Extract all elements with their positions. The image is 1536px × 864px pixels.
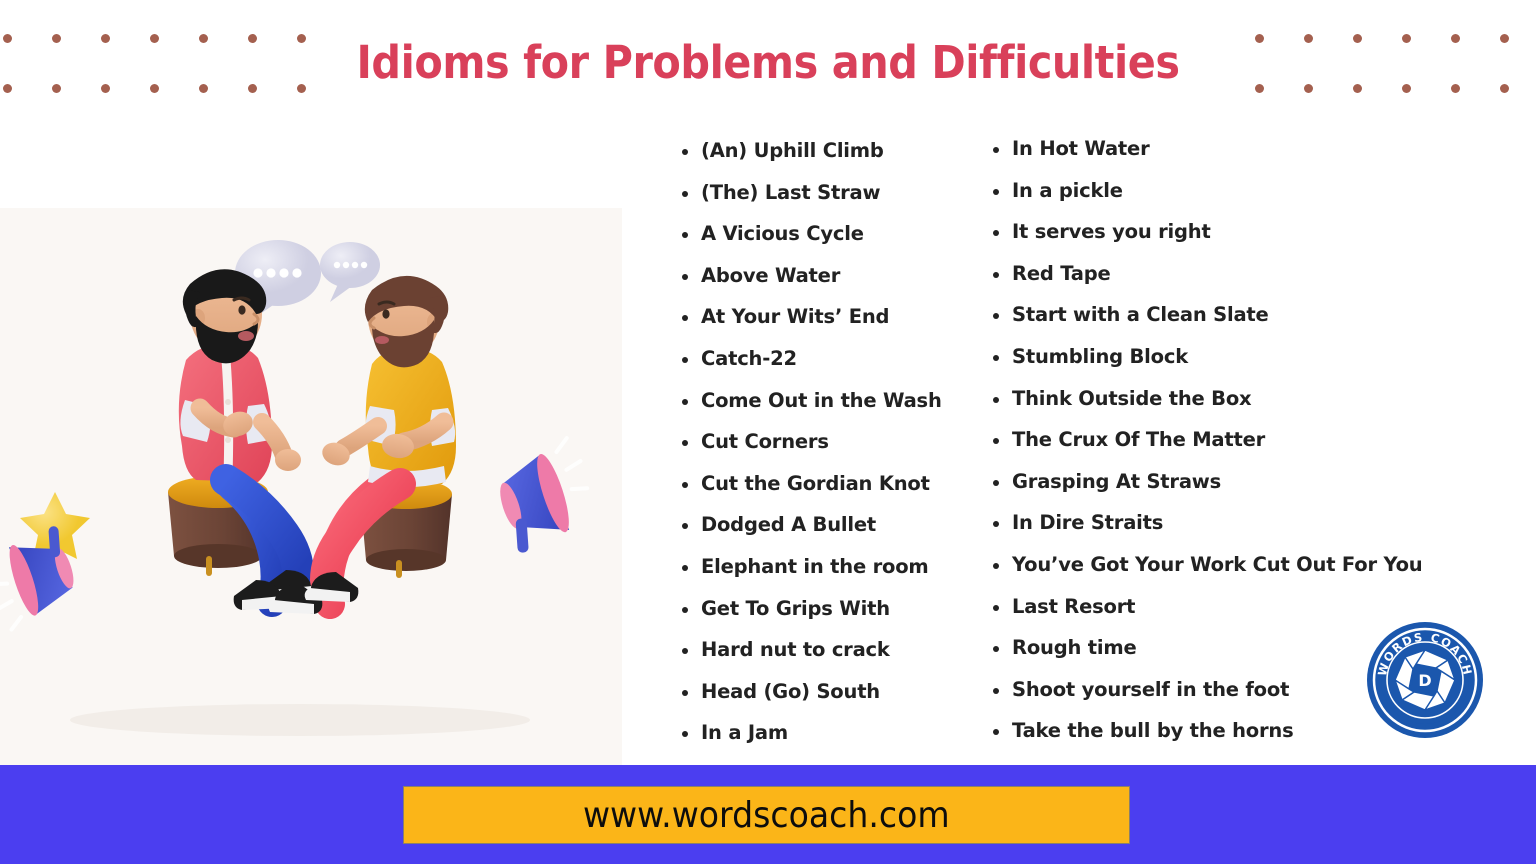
- idiom-item: A Vicious Cycle: [682, 213, 982, 255]
- idiom-item: Head (Go) South: [682, 671, 982, 713]
- decorative-dot: [1500, 34, 1509, 43]
- decorative-dot: [52, 34, 61, 43]
- idiom-item: In a Jam: [682, 712, 982, 754]
- idiom-item: In Dire Straits: [993, 502, 1513, 544]
- logo-center-letter: D: [1418, 671, 1431, 690]
- idiom-item: Grasping At Straws: [993, 461, 1513, 503]
- decorative-dot: [3, 34, 12, 43]
- decorative-dot: [3, 84, 12, 93]
- idiom-item: Get To Grips With: [682, 588, 982, 630]
- idiom-item: In Hot Water: [993, 128, 1513, 170]
- idiom-item: You’ve Got Your Work Cut Out For You: [993, 544, 1513, 586]
- footer-band: www.wordscoach.com: [0, 765, 1536, 864]
- idiom-item: In a pickle: [993, 170, 1513, 212]
- website-url-text: www.wordscoach.com: [583, 795, 950, 836]
- two-men-talking-illustration: [0, 208, 622, 765]
- idiom-item: Above Water: [682, 255, 982, 297]
- idiom-item: (The) Last Straw: [682, 172, 982, 214]
- idiom-item: Cut Corners: [682, 421, 982, 463]
- idiom-item: Start with a Clean Slate: [993, 294, 1513, 336]
- idiom-item: Dodged A Bullet: [682, 504, 982, 546]
- page-title: Idioms for Problems and Difficulties: [61, 36, 1474, 89]
- illustration-panel: [0, 208, 622, 765]
- idiom-item: Hard nut to crack: [682, 629, 982, 671]
- decorative-dot: [52, 84, 61, 93]
- idiom-item: Stumbling Block: [993, 336, 1513, 378]
- idiom-item: The Crux Of The Matter: [993, 419, 1513, 461]
- idiom-item: Elephant in the room: [682, 546, 982, 588]
- idiom-item: It serves you right: [993, 211, 1513, 253]
- idiom-item: (An) Uphill Climb: [682, 130, 982, 172]
- decorative-dot: [1500, 84, 1509, 93]
- idiom-item: Red Tape: [993, 253, 1513, 295]
- website-url-box[interactable]: www.wordscoach.com: [403, 786, 1130, 844]
- idiom-item: At Your Wits’ End: [682, 296, 982, 338]
- idiom-item: Come Out in the Wash: [682, 380, 982, 422]
- aperture-icon: D: [1395, 650, 1455, 710]
- idiom-item: Catch-22: [682, 338, 982, 380]
- poster-canvas: Idioms for Problems and Difficulties: [0, 0, 1536, 864]
- words-coach-logo: D WORDS COACH: [1366, 621, 1484, 739]
- idiom-item: Think Outside the Box: [993, 378, 1513, 420]
- words-coach-logo-mark: D WORDS COACH: [1366, 621, 1484, 739]
- idiom-list-left: (An) Uphill Climb(The) Last StrawA Vicio…: [682, 130, 982, 754]
- idiom-item: Cut the Gordian Knot: [682, 463, 982, 505]
